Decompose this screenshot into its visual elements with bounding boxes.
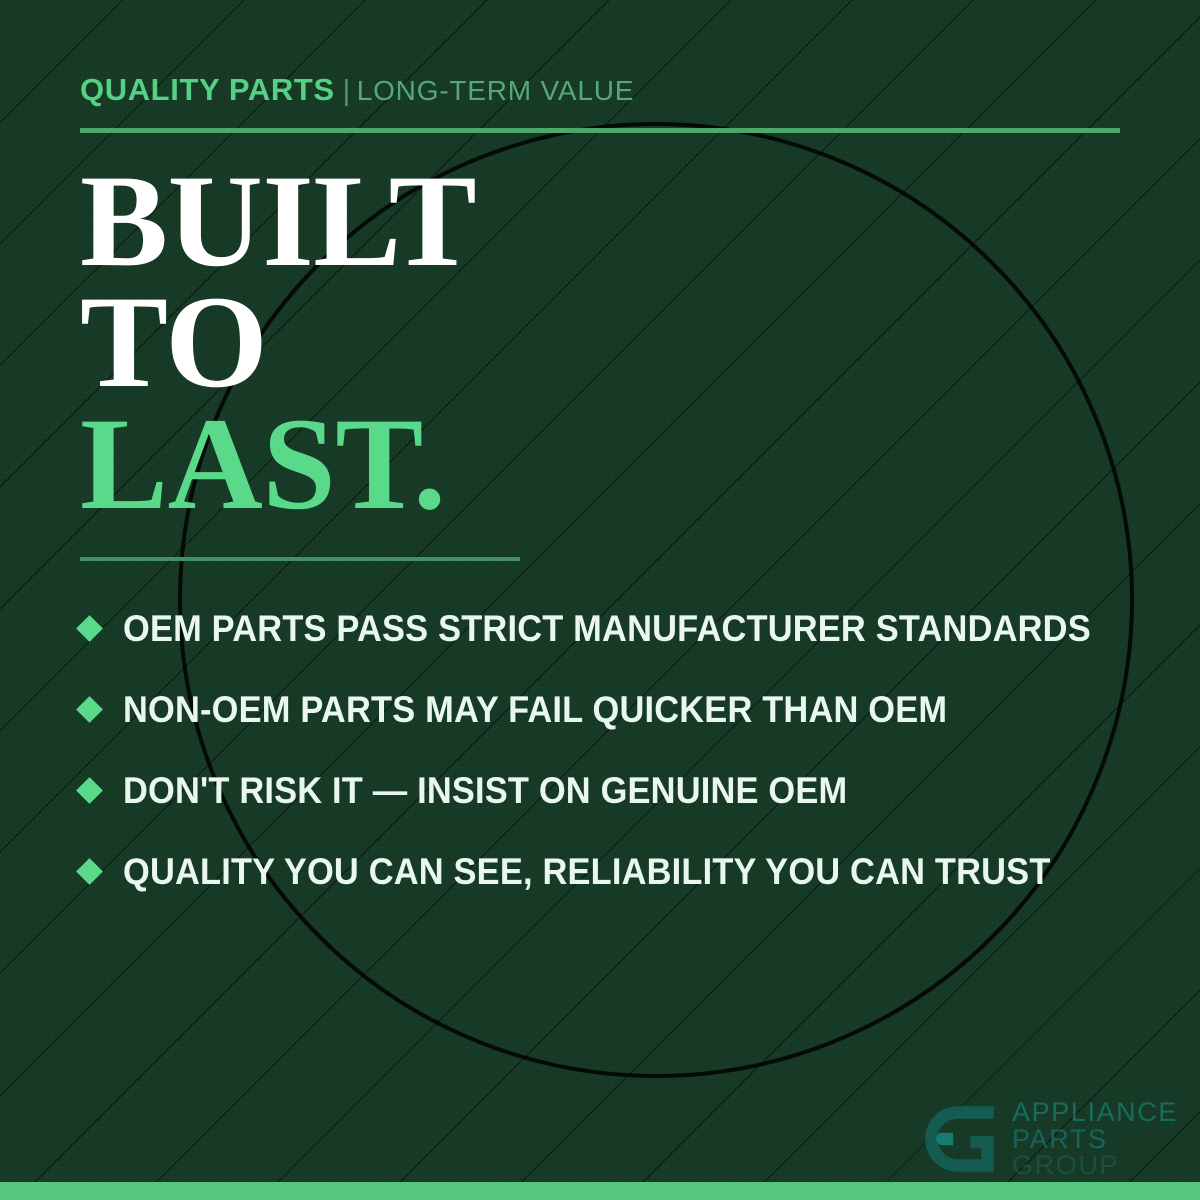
brand-wordmark-line-3: GROUP	[1012, 1152, 1178, 1178]
benefits-list: OEM PARTS PASS STRICT MANUFACTURER STAND…	[80, 588, 1140, 912]
brand-wordmark-line-2: PARTS	[1012, 1126, 1178, 1152]
list-item: OEM PARTS PASS STRICT MANUFACTURER STAND…	[80, 588, 1140, 669]
diamond-bullet-icon	[76, 615, 103, 642]
eyebrow-header: QUALITY PARTS|LONG-TERM VALUE	[80, 72, 634, 108]
brand-wordmark: APPLIANCE PARTS GROUP	[1012, 1099, 1178, 1178]
headline-line-1: BUILT	[80, 160, 476, 281]
list-item-label: NON-OEM PARTS MAY FAIL QUICKER THAN OEM	[123, 689, 947, 731]
list-item-label: OEM PARTS PASS STRICT MANUFACTURER STAND…	[123, 608, 1091, 650]
header-divider-rule	[80, 128, 1120, 133]
headline-divider-rule	[80, 557, 520, 561]
list-item: DON'T RISK IT — INSIST ON GENUINE OEM	[80, 750, 1140, 831]
brand-logo: APPLIANCE PARTS GROUP	[922, 1099, 1178, 1178]
diamond-bullet-icon	[76, 696, 103, 723]
page-title: BUILT TO LAST.	[80, 160, 476, 524]
list-item-label: DON'T RISK IT — INSIST ON GENUINE OEM	[123, 770, 847, 812]
brand-wordmark-line-1: APPLIANCE	[1012, 1099, 1178, 1125]
poster-canvas: QUALITY PARTS|LONG-TERM VALUE BUILT TO L…	[0, 0, 1200, 1200]
list-item: NON-OEM PARTS MAY FAIL QUICKER THAN OEM	[80, 669, 1140, 750]
list-item-label: QUALITY YOU CAN SEE, RELIABILITY YOU CAN…	[123, 851, 1051, 893]
g-monogram-icon	[922, 1100, 1000, 1178]
eyebrow-separator: |	[343, 75, 351, 107]
list-item: QUALITY YOU CAN SEE, RELIABILITY YOU CAN…	[80, 831, 1140, 912]
eyebrow-subtitle: LONG-TERM VALUE	[357, 75, 635, 106]
bottom-accent-bar	[0, 1182, 1200, 1200]
headline-line-3: LAST.	[80, 403, 476, 524]
diamond-bullet-icon	[76, 858, 103, 885]
headline-line-2: TO	[80, 281, 476, 402]
eyebrow-kicker: QUALITY PARTS	[80, 72, 335, 107]
diamond-bullet-icon	[76, 777, 103, 804]
